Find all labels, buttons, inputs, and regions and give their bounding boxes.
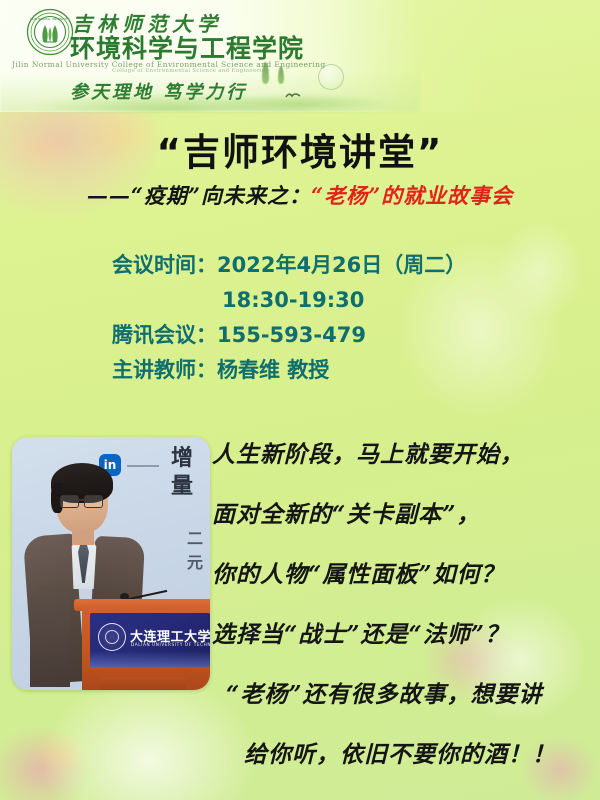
body-line: 选择当“战士”还是“法师”？ [212,605,600,665]
dalian-university-seal-icon [98,623,126,651]
podium-banner-skyline [90,651,210,667]
podium-banner: 大连理工大学 DALIAN UNIVERSITY OF TECHNOLOGY [90,613,210,667]
svg-text:JILIN NORMAL UNIVERSITY: JILIN NORMAL UNIVERSITY [29,17,69,21]
podium-university-name-en: DALIAN UNIVERSITY OF TECHNOLOGY [131,642,210,647]
meeting-time-row: 18:30-19:30 [112,283,466,318]
poster-body-text: 人生新阶段，马上就要开始， 面对全新的“关卡副本”， 你的人物“属性面板”如何？… [212,425,600,785]
subtitle-highlight: “老杨”的就业故事会 [311,183,513,208]
slide-side-char: 元 [187,549,203,573]
subtitle-prefix: ——“疫期”向未来之： [87,183,311,208]
podium-base [100,677,186,690]
body-line: 你的人物“属性面板”如何？ [212,545,600,605]
speaker-glasses-icon [60,495,106,507]
slide-heading-text: 增量 [165,445,199,501]
college-name-en: College of Environmental Science and Eng… [112,68,269,74]
speaker-arm [30,587,70,687]
speaker-row: 主讲教师：杨春维 教授 [112,353,466,388]
poster-subtitle: ——“疫期”向未来之：“老杨”的就业故事会 [0,180,600,210]
header-banner: JILIN NORMAL UNIVERSITY 吉林师范大学 环境科学与工程学院… [0,0,600,112]
body-line: 面对全新的“关卡副本”， [212,485,600,545]
bird-icon [285,92,301,99]
meeting-info-block: 会议时间：2022年4月26日（周二） 18:30-19:30 腾讯会议：155… [112,248,466,388]
body-line: 人生新阶段，马上就要开始， [212,425,600,485]
university-emblem-icon: JILIN NORMAL UNIVERSITY [26,8,74,56]
poster-main-title: “吉师环境讲堂” [0,122,600,176]
meeting-id-row: 腾讯会议：155-593-479 [112,318,466,353]
university-motto: 参天理地 笃学力行 [70,78,247,104]
meeting-date-row: 会议时间：2022年4月26日（周二） [112,248,466,283]
body-line: 给你听，依旧不要你的酒！！ [212,725,600,785]
poster-root: JILIN NORMAL UNIVERSITY 吉林师范大学 环境科学与工程学院… [0,0,600,800]
body-line: “老杨”还有很多故事，想要讲 [212,665,600,725]
speaker-photo: in 增量 二 元 语 越 大连理工大学 DALIAN UNIVERSITY O… [12,437,210,690]
slide-divider-line [127,465,159,467]
slide-side-char: 二 [187,525,203,549]
